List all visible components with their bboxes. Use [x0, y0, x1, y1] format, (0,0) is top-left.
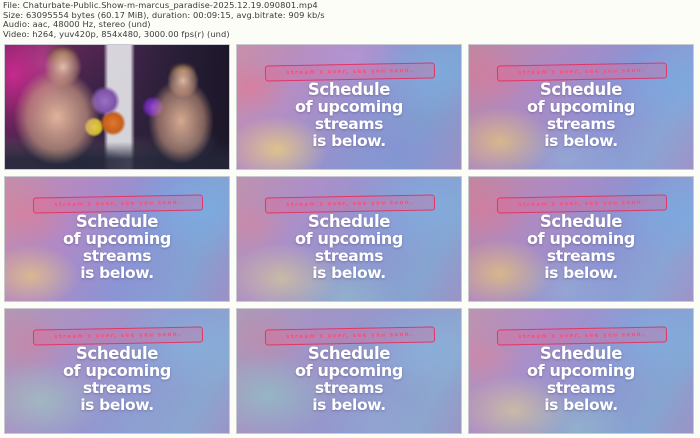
- card-headline: Schedule of upcoming streams is below.: [5, 345, 229, 415]
- card-headline: Schedule of upcoming streams is below.: [237, 213, 461, 283]
- banner-label: stream's over, see you soon.: [286, 67, 413, 76]
- banner-label: stream's over, see you soon.: [286, 199, 413, 208]
- stream-end-card: stream's over, see you soon. Schedule of…: [469, 177, 693, 301]
- thumbnail-7[interactable]: stream's over, see you soon. Schedule of…: [4, 308, 230, 434]
- headline-line-2: of upcoming: [237, 362, 461, 380]
- stream-over-banner: stream's over, see you soon.: [497, 326, 667, 345]
- headline-line-4: is below.: [237, 397, 461, 415]
- headline-line-4: is below.: [5, 397, 229, 415]
- headline-line-3: streams: [5, 380, 229, 398]
- card-headline: Schedule of upcoming streams is below.: [469, 345, 693, 415]
- headline-line-3: streams: [237, 248, 461, 266]
- headline-line-1: Schedule: [469, 345, 693, 363]
- banner-label: stream's over, see you soon.: [518, 331, 645, 340]
- thumbnail-8[interactable]: stream's over, see you soon. Schedule of…: [236, 308, 462, 434]
- metadata-line-video: Video: h264, yuv420p, 854x480, 3000.00 f…: [3, 30, 697, 40]
- headline-line-2: of upcoming: [237, 98, 461, 116]
- stream-over-banner: stream's over, see you soon.: [497, 194, 667, 213]
- headline-line-1: Schedule: [469, 81, 693, 99]
- stream-end-card: stream's over, see you soon. Schedule of…: [5, 309, 229, 433]
- thumbnail-grid: stream's over, see you soon. Schedule of…: [4, 44, 694, 428]
- card-headline: Schedule of upcoming streams is below.: [5, 213, 229, 283]
- thumbnail-6[interactable]: stream's over, see you soon. Schedule of…: [468, 176, 694, 302]
- headline-line-3: streams: [237, 380, 461, 398]
- thumbnail-9[interactable]: stream's over, see you soon. Schedule of…: [468, 308, 694, 434]
- stream-end-card: stream's over, see you soon. Schedule of…: [237, 309, 461, 433]
- stream-end-card: stream's over, see you soon. Schedule of…: [469, 309, 693, 433]
- stream-over-banner: stream's over, see you soon.: [265, 194, 435, 213]
- stream-end-card: stream's over, see you soon. Schedule of…: [237, 45, 461, 169]
- thumbnail-1[interactable]: [4, 44, 230, 170]
- file-metadata-block: File: Chaturbate-Public.Show-m-marcus_pa…: [3, 1, 697, 39]
- headline-line-2: of upcoming: [5, 362, 229, 380]
- banner-label: stream's over, see you soon.: [518, 199, 645, 208]
- headline-line-1: Schedule: [237, 345, 461, 363]
- headline-line-4: is below.: [5, 265, 229, 283]
- thumbnail-3[interactable]: stream's over, see you soon. Schedule of…: [468, 44, 694, 170]
- thumbnail-2[interactable]: stream's over, see you soon. Schedule of…: [236, 44, 462, 170]
- headline-line-1: Schedule: [237, 213, 461, 231]
- headline-line-2: of upcoming: [469, 230, 693, 248]
- banner-label: stream's over, see you soon.: [54, 199, 181, 208]
- headline-line-3: streams: [469, 248, 693, 266]
- card-headline: Schedule of upcoming streams is below.: [237, 81, 461, 151]
- headline-line-4: is below.: [469, 265, 693, 283]
- headline-line-2: of upcoming: [237, 230, 461, 248]
- headline-line-3: streams: [237, 116, 461, 134]
- headline-line-2: of upcoming: [469, 98, 693, 116]
- headline-line-3: streams: [469, 380, 693, 398]
- stream-over-banner: stream's over, see you soon.: [265, 62, 435, 81]
- headline-line-4: is below.: [469, 133, 693, 151]
- card-headline: Schedule of upcoming streams is below.: [237, 345, 461, 415]
- headline-line-2: of upcoming: [469, 362, 693, 380]
- thumbnail-5[interactable]: stream's over, see you soon. Schedule of…: [236, 176, 462, 302]
- stream-over-banner: stream's over, see you soon.: [33, 326, 203, 345]
- headline-line-1: Schedule: [469, 213, 693, 231]
- thumbnail-4[interactable]: stream's over, see you soon. Schedule of…: [4, 176, 230, 302]
- headline-line-1: Schedule: [5, 213, 229, 231]
- headline-line-1: Schedule: [237, 81, 461, 99]
- stream-end-card: stream's over, see you soon. Schedule of…: [5, 177, 229, 301]
- banner-label: stream's over, see you soon.: [518, 67, 645, 76]
- banner-label: stream's over, see you soon.: [54, 331, 181, 340]
- headline-line-3: streams: [5, 248, 229, 266]
- headline-line-4: is below.: [237, 133, 461, 151]
- stream-over-banner: stream's over, see you soon.: [265, 326, 435, 345]
- stream-end-card: stream's over, see you soon. Schedule of…: [469, 45, 693, 169]
- stream-over-banner: stream's over, see you soon.: [33, 194, 203, 213]
- thumbnail-contact-sheet: File: Chaturbate-Public.Show-m-marcus_pa…: [0, 0, 700, 438]
- stream-end-card: stream's over, see you soon. Schedule of…: [237, 177, 461, 301]
- card-headline: Schedule of upcoming streams is below.: [469, 81, 693, 151]
- card-headline: Schedule of upcoming streams is below.: [469, 213, 693, 283]
- headline-line-4: is below.: [237, 265, 461, 283]
- video-frame-photo: [5, 45, 229, 169]
- stream-over-banner: stream's over, see you soon.: [497, 62, 667, 81]
- headline-line-2: of upcoming: [5, 230, 229, 248]
- headline-line-1: Schedule: [5, 345, 229, 363]
- banner-label: stream's over, see you soon.: [286, 331, 413, 340]
- headline-line-3: streams: [469, 116, 693, 134]
- headline-line-4: is below.: [469, 397, 693, 415]
